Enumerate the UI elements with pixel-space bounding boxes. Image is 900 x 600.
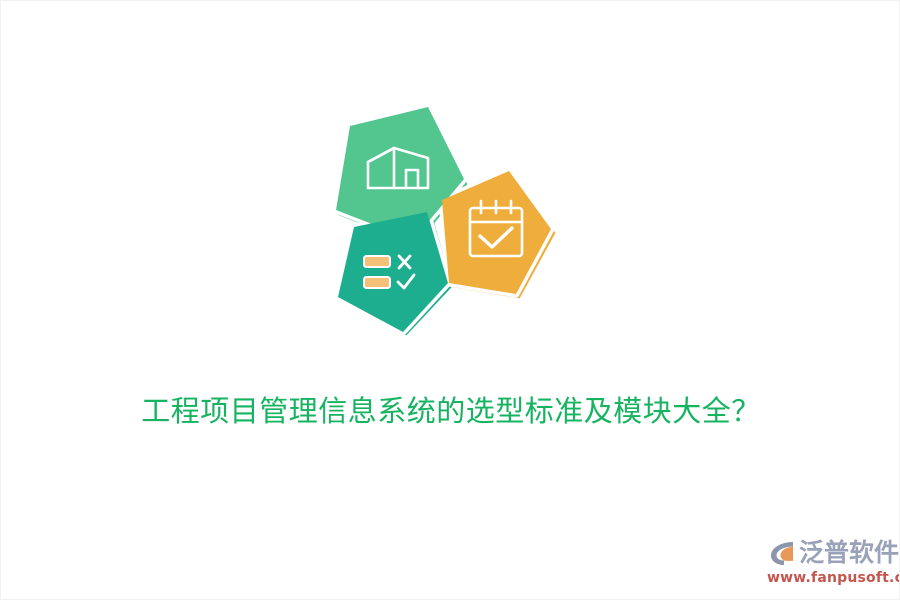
watermark-url: www.fanpusoft.com [767, 570, 893, 586]
pentagon-teal-shape [338, 212, 448, 332]
watermark-logo: 泛普软件 www.fanpusoft.com [767, 537, 893, 589]
pentagon-teal-checklist [338, 212, 448, 332]
fanpu-logo-mark-icon [767, 538, 797, 568]
page-root: 工程项目管理信息系统的选型标准及模块大全？ 泛普软件 www.fanpusoft… [0, 0, 900, 600]
checklist-bar-2 [364, 277, 390, 288]
hero-illustration [306, 96, 566, 346]
checklist-bar-1 [364, 256, 390, 267]
watermark-brand-name: 泛普软件 [799, 539, 899, 567]
page-title: 工程项目管理信息系统的选型标准及模块大全？ [1, 391, 900, 431]
watermark-logo-row: 泛普软件 [767, 537, 893, 569]
